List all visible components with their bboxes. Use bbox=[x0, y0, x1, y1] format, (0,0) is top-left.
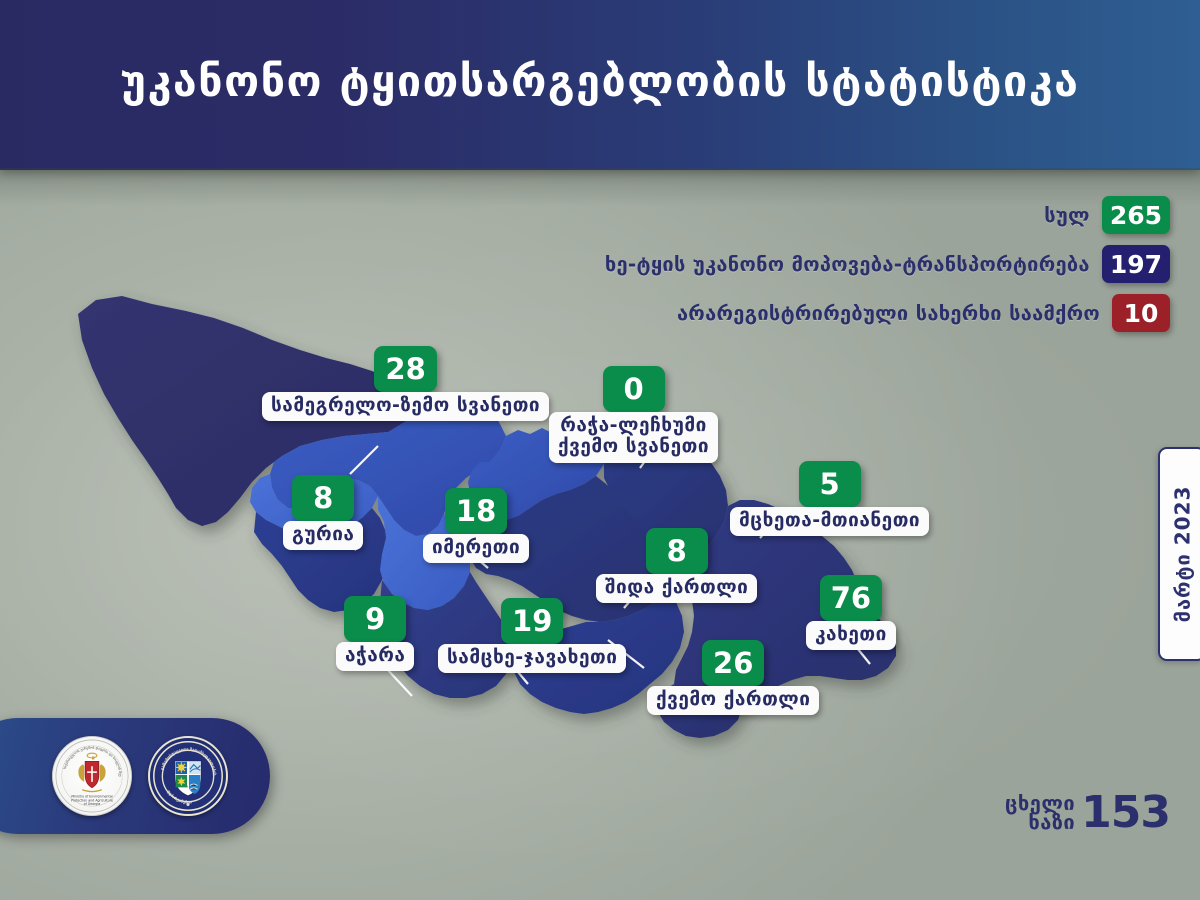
map-marker-racha-lechkhumi[interactable]: 0 რაჭა-ლეჩხუმი ქვემო სვანეთი bbox=[549, 366, 718, 463]
map-marker-samtskhe-javakheti[interactable]: 19 სამცხე-ჯავახეთი bbox=[438, 598, 626, 673]
legend-row-illegal-logging-transport: ხე-ტყის უკანონო მოპოვება-ტრანსპორტირება … bbox=[605, 245, 1170, 283]
map-marker-shida-kartli[interactable]: 8 შიდა ქართლი bbox=[596, 528, 757, 603]
map-marker-adjara[interactable]: 9 აჭარა bbox=[336, 596, 414, 671]
marker-label: შიდა ქართლი bbox=[596, 574, 757, 603]
marker-label: იმერეთი bbox=[423, 534, 529, 563]
marker-value: 8 bbox=[646, 528, 708, 574]
ministry-emblem-icon: Ministry of Environmental Protection and… bbox=[52, 736, 132, 816]
supervision-emblem-icon: გარემოსდაცვითი ზედამხედველობის დეპარტამე… bbox=[148, 736, 228, 816]
marker-label: გურია bbox=[283, 521, 363, 550]
hotline: ცხელი ხაზი 153 bbox=[1005, 787, 1170, 838]
marker-label: აჭარა bbox=[336, 642, 414, 671]
legend-label: ხე-ტყის უკანონო მოპოვება-ტრანსპორტირება bbox=[605, 252, 1090, 276]
marker-label: სამეგრელო-ზემო სვანეთი bbox=[262, 392, 549, 421]
header-banner: უკანონო ტყითსარგებლობის სტატისტიკა bbox=[0, 0, 1200, 170]
legend-badge: 10 bbox=[1112, 294, 1170, 332]
legend-label: არარეგისტრირებული სახერხი საამქრო bbox=[677, 301, 1100, 325]
map-marker-kvemo-kartli[interactable]: 26 ქვემო ქართლი bbox=[647, 640, 819, 715]
marker-value: 28 bbox=[374, 346, 436, 392]
marker-value: 0 bbox=[603, 366, 665, 412]
marker-label: სამცხე-ჯავახეთი bbox=[438, 644, 626, 673]
marker-label: მცხეთა-მთიანეთი bbox=[730, 507, 929, 536]
marker-value: 26 bbox=[702, 640, 764, 686]
marker-label: კახეთი bbox=[806, 621, 896, 650]
legend-badge: 265 bbox=[1102, 196, 1170, 234]
legend-row-unregistered-sawmill: არარეგისტრირებული სახერხი საამქრო 10 bbox=[677, 294, 1170, 332]
marker-label: რაჭა-ლეჩხუმი ქვემო სვანეთი bbox=[549, 412, 718, 463]
hotline-words: ცხელი ხაზი bbox=[1005, 794, 1075, 832]
marker-value: 9 bbox=[344, 596, 406, 642]
marker-value: 76 bbox=[820, 575, 882, 621]
marker-value: 5 bbox=[799, 461, 861, 507]
hotline-number: 153 bbox=[1081, 787, 1170, 838]
marker-value: 8 bbox=[292, 475, 354, 521]
map-marker-imereti[interactable]: 18 იმერეთი bbox=[423, 488, 529, 563]
legend: სულ 265 ხე-ტყის უკანონო მოპოვება-ტრანსპო… bbox=[605, 196, 1170, 332]
legend-row-total: სულ 265 bbox=[1044, 196, 1170, 234]
svg-text:of Georgia: of Georgia bbox=[84, 802, 101, 806]
page-title: უკანონო ტყითსარგებლობის სტატისტიკა bbox=[121, 61, 1080, 110]
map-marker-guria[interactable]: 8 გურია bbox=[283, 475, 363, 550]
logo-pill: Ministry of Environmental Protection and… bbox=[0, 718, 270, 834]
map-marker-mtskheta-mtianeti[interactable]: 5 მცხეთა-მთიანეთი bbox=[730, 461, 929, 536]
legend-badge: 197 bbox=[1102, 245, 1170, 283]
hotline-line2: ხაზი bbox=[1005, 813, 1075, 832]
date-tab: მარტი 2023 bbox=[1158, 447, 1200, 661]
date-label: მარტი 2023 bbox=[1170, 486, 1194, 623]
map-marker-kakheti[interactable]: 76 კახეთი bbox=[806, 575, 896, 650]
map-marker-samegrelo-zemo-svaneti[interactable]: 28 სამეგრელო-ზემო სვანეთი bbox=[262, 346, 549, 421]
legend-label: სულ bbox=[1044, 203, 1090, 227]
marker-value: 18 bbox=[445, 488, 507, 534]
marker-label: ქვემო ქართლი bbox=[647, 686, 819, 715]
marker-value: 19 bbox=[501, 598, 563, 644]
